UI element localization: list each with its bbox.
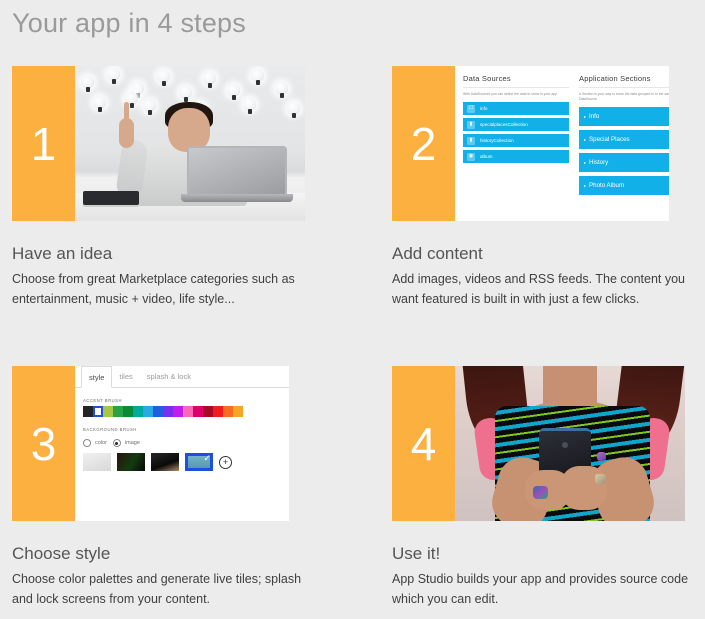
- chevron-right-icon: ▸: [584, 114, 586, 119]
- accent-swatch[interactable]: [203, 406, 213, 417]
- accent-swatch[interactable]: [113, 406, 123, 417]
- step-1-number-block: 1: [12, 66, 75, 221]
- accent-swatch[interactable]: [223, 406, 233, 417]
- data-source-tile-specialplaces[interactable]: ▮ specialplacesCollection: [463, 118, 569, 131]
- step-4-caption: Use it! App Studio builds your app and p…: [392, 543, 695, 609]
- radio-icon-selected: [113, 439, 121, 447]
- list-icon: ▮: [467, 121, 475, 129]
- step-1-visual: 1: [12, 66, 305, 221]
- step-card-1: 1: [12, 66, 312, 309]
- background-brush-options: color image: [75, 435, 305, 447]
- step-card-3: 3 style tiles splash & lock ACCENT BRUSH: [12, 366, 312, 609]
- accent-brush-label: ACCENT BRUSH: [75, 388, 305, 406]
- accent-swatch[interactable]: [103, 406, 113, 417]
- data-sources-heading: Data Sources: [463, 74, 569, 88]
- step-3-number: 3: [12, 421, 75, 467]
- accent-swatch[interactable]: [143, 406, 153, 417]
- accent-swatch[interactable]: [173, 406, 183, 417]
- step-1-number: 1: [12, 121, 75, 167]
- screenshot-right-crop: [669, 66, 685, 221]
- rss-icon: ◉: [467, 153, 475, 161]
- radio-icon: [83, 439, 91, 447]
- accent-swatch[interactable]: [83, 406, 93, 417]
- section-tile-info[interactable]: ▸ Info: [579, 107, 679, 126]
- step-3-visual: 3 style tiles splash & lock ACCENT BRUSH: [12, 366, 305, 521]
- radio-background-color[interactable]: color: [83, 439, 107, 447]
- step-4-number-block: 4: [392, 366, 455, 521]
- data-source-label: info: [480, 106, 487, 111]
- radio-background-image[interactable]: image: [113, 439, 140, 447]
- section-tile-history[interactable]: ▸ History: [579, 153, 679, 172]
- tab-splash-and-lock[interactable]: splash & lock: [140, 366, 198, 387]
- data-source-label: historyCollection: [480, 138, 514, 143]
- data-sources-column: Data Sources With DataSources you can de…: [455, 66, 575, 221]
- step-1-caption: Have an idea Choose from great Marketpla…: [12, 243, 312, 309]
- step-2-body: Add images, videos and RSS feeds. The co…: [392, 270, 695, 309]
- data-source-label: specialplacesCollection: [480, 122, 528, 127]
- accent-swatch-row[interactable]: [75, 406, 305, 417]
- step-3-body: Choose color palettes and generate live …: [12, 570, 312, 609]
- data-source-label: album: [480, 154, 493, 159]
- step-4-visual: 4: [392, 366, 685, 521]
- chevron-right-icon: ▸: [584, 160, 586, 165]
- step-4-number: 4: [392, 421, 455, 467]
- accent-swatch[interactable]: [123, 406, 133, 417]
- step-2-caption: Add content Add images, videos and RSS f…: [392, 243, 695, 309]
- step-4-image: [455, 366, 685, 521]
- screenshot-right-crop: [289, 366, 305, 521]
- data-source-tile-history[interactable]: ▮ historyCollection: [463, 134, 569, 147]
- accent-swatch[interactable]: [133, 406, 143, 417]
- plus-circle-icon[interactable]: +: [219, 456, 232, 469]
- step-card-2: 2 Data Sources With DataSources you can …: [392, 66, 695, 309]
- step-1-image: [75, 66, 305, 221]
- accent-swatch[interactable]: [163, 406, 173, 417]
- radio-label: image: [125, 440, 140, 446]
- section-label: Photo Album: [589, 182, 624, 189]
- step-3-number-block: 3: [12, 366, 75, 521]
- step-4-body: App Studio builds your app and provides …: [392, 570, 695, 609]
- data-source-tile-album[interactable]: ◉ album: [463, 150, 569, 163]
- step-2-visual: 2 Data Sources With DataSources you can …: [392, 66, 685, 221]
- tab-tiles[interactable]: tiles: [112, 366, 139, 387]
- step-3-image: style tiles splash & lock ACCENT BRUSH: [75, 366, 305, 521]
- accent-swatch[interactable]: [233, 406, 243, 417]
- step-2-number: 2: [392, 121, 455, 167]
- phone-icon: ☐: [467, 105, 475, 113]
- accent-swatch[interactable]: [153, 406, 163, 417]
- photo-woman-with-phone: [455, 366, 685, 521]
- background-thumbnail-selected[interactable]: [185, 453, 213, 471]
- section-label: Info: [589, 113, 599, 120]
- steps-page: Your app in 4 steps 1: [0, 0, 705, 619]
- data-source-tile-info[interactable]: ☐ info: [463, 102, 569, 115]
- style-editor-screenshot: style tiles splash & lock ACCENT BRUSH: [75, 366, 305, 521]
- step-4-title: Use it!: [392, 543, 695, 565]
- page-title: Your app in 4 steps: [12, 6, 246, 40]
- radio-label: color: [95, 440, 107, 446]
- background-thumbnail-row: +: [75, 447, 305, 471]
- background-thumbnail[interactable]: [117, 453, 145, 471]
- app-studio-screenshot: Data Sources With DataSources you can de…: [455, 66, 685, 221]
- step-card-4: 4: [392, 366, 695, 609]
- application-sections-heading: Application Sections: [579, 74, 679, 88]
- step-3-title: Choose style: [12, 543, 312, 565]
- step-2-title: Add content: [392, 243, 695, 265]
- tab-style[interactable]: style: [81, 366, 112, 388]
- background-thumbnail[interactable]: [151, 453, 179, 471]
- accent-swatch[interactable]: [183, 406, 193, 417]
- step-1-body: Choose from great Marketplace categories…: [12, 270, 312, 309]
- background-brush-label: BACKGROUND BRUSH: [75, 417, 305, 435]
- data-sources-description: With DataSources you can define the data…: [463, 92, 569, 97]
- style-editor-tabs: style tiles splash & lock: [75, 366, 305, 388]
- accent-swatch[interactable]: [193, 406, 203, 417]
- step-2-number-block: 2: [392, 66, 455, 221]
- background-thumbnail[interactable]: [83, 453, 111, 471]
- step-3-caption: Choose style Choose color palettes and g…: [12, 543, 312, 609]
- section-label: History: [589, 159, 608, 166]
- application-sections-description: A Section is your way to show the data g…: [579, 92, 679, 102]
- chevron-right-icon: ▸: [584, 137, 586, 142]
- accent-swatch[interactable]: [213, 406, 223, 417]
- section-label: Special Places: [589, 136, 630, 143]
- section-tile-photo-album[interactable]: ▸ Photo Album: [579, 176, 679, 195]
- section-tile-special-places[interactable]: ▸ Special Places: [579, 130, 679, 149]
- chevron-right-icon: ▸: [584, 183, 586, 188]
- step-1-title: Have an idea: [12, 243, 312, 265]
- photo-man-with-laptop: [75, 66, 305, 221]
- accent-swatch-selected[interactable]: [93, 406, 103, 417]
- step-2-image: Data Sources With DataSources you can de…: [455, 66, 685, 221]
- list-icon: ▮: [467, 137, 475, 145]
